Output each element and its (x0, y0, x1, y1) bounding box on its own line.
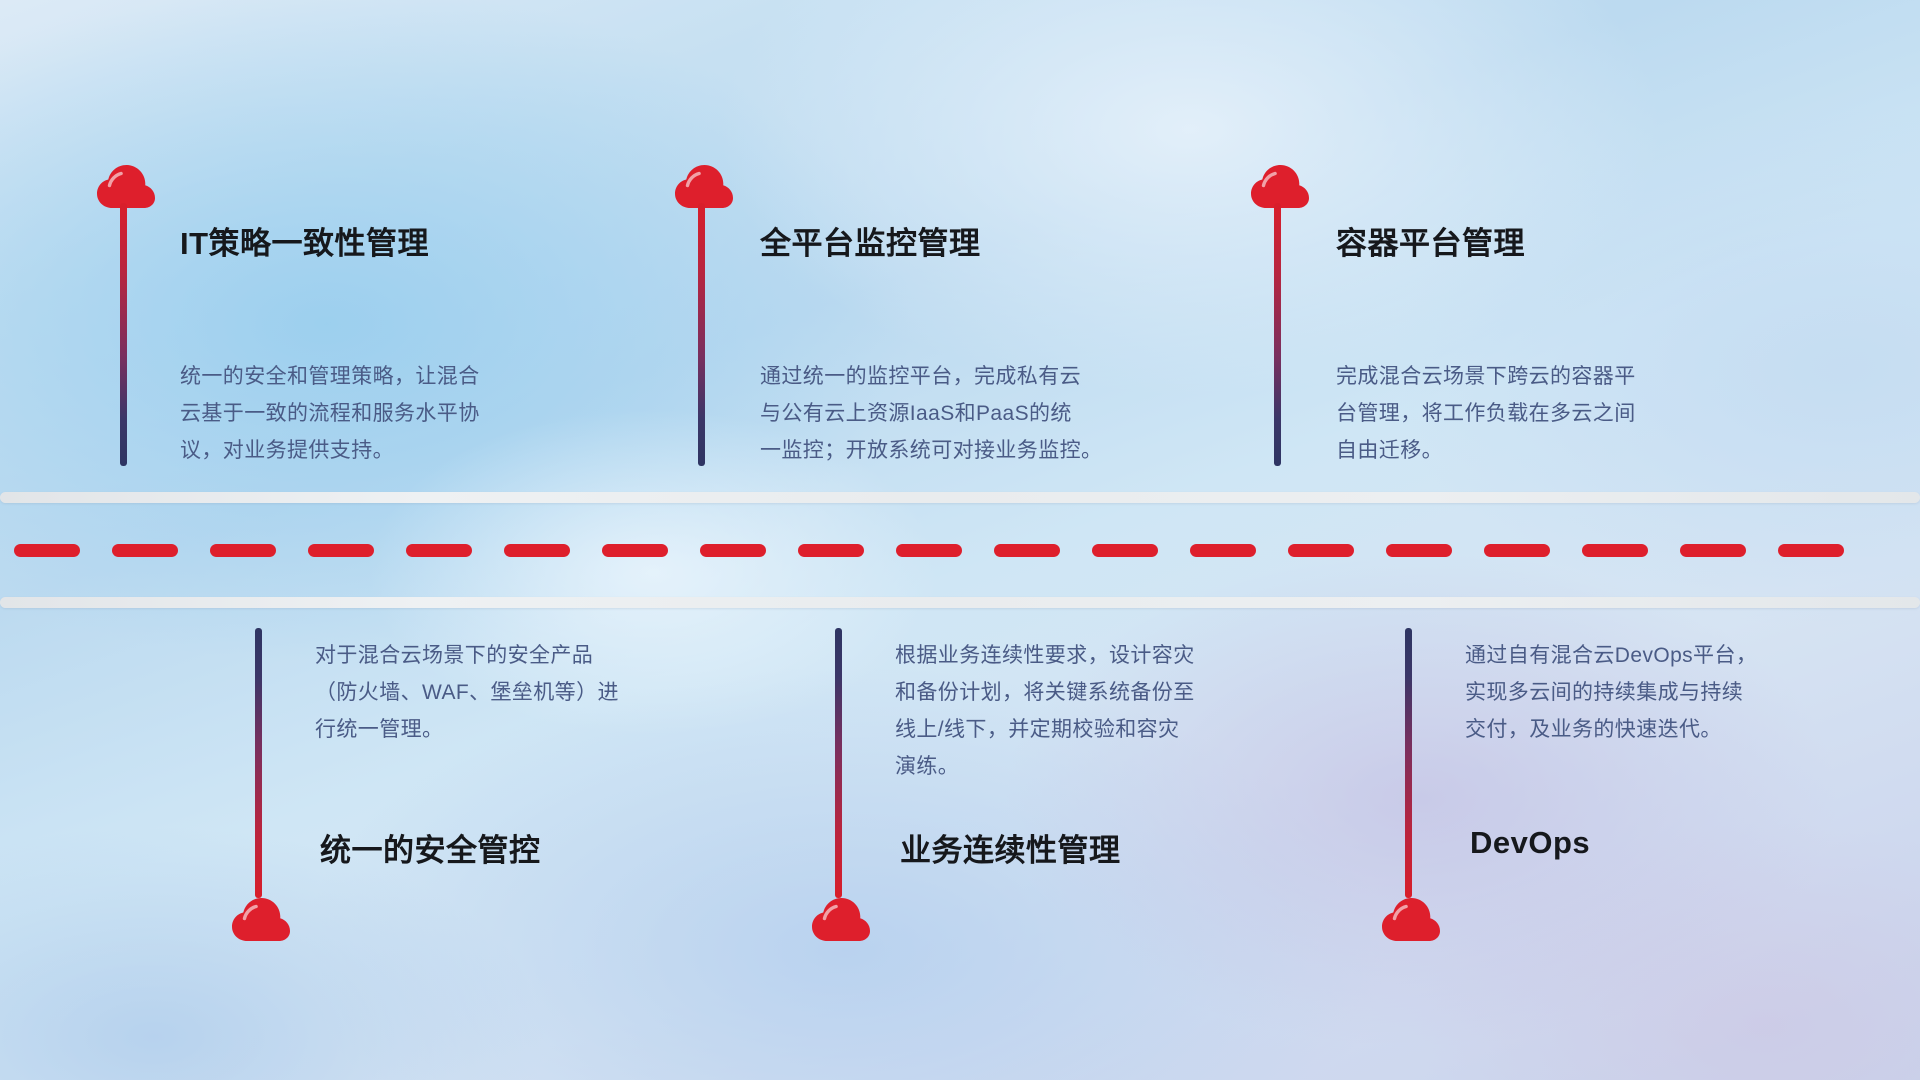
cloud-icon (95, 163, 157, 209)
cloud-icon (810, 896, 872, 942)
divider-dash (1680, 544, 1746, 557)
divider-dash (1484, 544, 1550, 557)
body-line: 行统一管理。 (315, 711, 715, 748)
bottom-body-1: 对于混合云场景下的安全产品 （防火墙、WAF、堡垒机等）进 行统一管理。 (315, 637, 715, 748)
body-line: 演练。 (895, 748, 1295, 785)
body-line: 云基于一致的流程和服务水平协 (180, 395, 580, 432)
top-body-1: 统一的安全和管理策略，让混合 云基于一致的流程和服务水平协 议，对业务提供支持。 (180, 358, 580, 469)
column-stem (698, 203, 705, 466)
divider-dash (1778, 544, 1844, 557)
divider-dash (1092, 544, 1158, 557)
bottom-body-3: 通过自有混合云DevOps平台， 实现多云间的持续集成与持续 交付，及业务的快速… (1465, 637, 1865, 748)
body-line: 与公有云上资源IaaS和PaaS的统 (760, 395, 1160, 432)
divider-dash (406, 544, 472, 557)
divider-dash (504, 544, 570, 557)
cloud-icon (1249, 163, 1311, 209)
divider-dash (700, 544, 766, 557)
divider-dash (994, 544, 1060, 557)
bottom-heading-2: 业务连续性管理 (900, 825, 1121, 870)
divider-dash (1386, 544, 1452, 557)
column-stem (255, 628, 262, 898)
divider-dash (1582, 544, 1648, 557)
divider-dash (798, 544, 864, 557)
body-line: 通过自有混合云DevOps平台， (1465, 637, 1865, 674)
bottom-heading-3: DevOps (1470, 825, 1590, 861)
divider-dash (1288, 544, 1354, 557)
divider-dash (112, 544, 178, 557)
body-line: 一监控；开放系统可对接业务监控。 (760, 432, 1160, 469)
body-line: 台管理，将工作负载在多云之间 (1336, 395, 1736, 432)
body-line: 对于混合云场景下的安全产品 (315, 637, 715, 674)
bottom-body-2: 根据业务连续性要求，设计容灾 和备份计划，将关键系统备份至 线上/线下，并定期校… (895, 637, 1295, 785)
column-stem (1405, 628, 1412, 898)
top-body-3: 完成混合云场景下跨云的容器平 台管理，将工作负载在多云之间 自由迁移。 (1336, 358, 1736, 469)
top-body-2: 通过统一的监控平台，完成私有云 与公有云上资源IaaS和PaaS的统 一监控；开… (760, 358, 1160, 469)
body-line: 完成混合云场景下跨云的容器平 (1336, 358, 1736, 395)
body-line: 统一的安全和管理策略，让混合 (180, 358, 580, 395)
body-line: （防火墙、WAF、堡垒机等）进 (315, 674, 715, 711)
divider-dash (1190, 544, 1256, 557)
top-heading-1: IT策略一致性管理 (180, 218, 429, 263)
body-line: 实现多云间的持续集成与持续 (1465, 674, 1865, 711)
divider-dash (602, 544, 668, 557)
body-line: 交付，及业务的快速迭代。 (1465, 711, 1865, 748)
column-stem (835, 628, 842, 898)
cloud-icon (230, 896, 292, 942)
top-heading-2: 全平台监控管理 (760, 218, 981, 263)
column-stem (1274, 203, 1281, 466)
body-line: 自由迁移。 (1336, 432, 1736, 469)
body-line: 根据业务连续性要求，设计容灾 (895, 637, 1295, 674)
body-line: 通过统一的监控平台，完成私有云 (760, 358, 1160, 395)
top-heading-3: 容器平台管理 (1336, 218, 1525, 263)
cloud-icon (673, 163, 735, 209)
divider-dashed-line (0, 544, 1920, 557)
divider-rail-bottom (0, 597, 1920, 608)
divider-dash (308, 544, 374, 557)
body-line: 线上/线下，并定期校验和容灾 (895, 711, 1295, 748)
divider-dash (210, 544, 276, 557)
body-line: 和备份计划，将关键系统备份至 (895, 674, 1295, 711)
body-line: 议，对业务提供支持。 (180, 432, 580, 469)
bottom-heading-1: 统一的安全管控 (320, 825, 541, 870)
cloud-icon (1380, 896, 1442, 942)
divider-dash (896, 544, 962, 557)
column-stem (120, 203, 127, 466)
divider-rail-top (0, 492, 1920, 503)
divider-dash (14, 544, 80, 557)
